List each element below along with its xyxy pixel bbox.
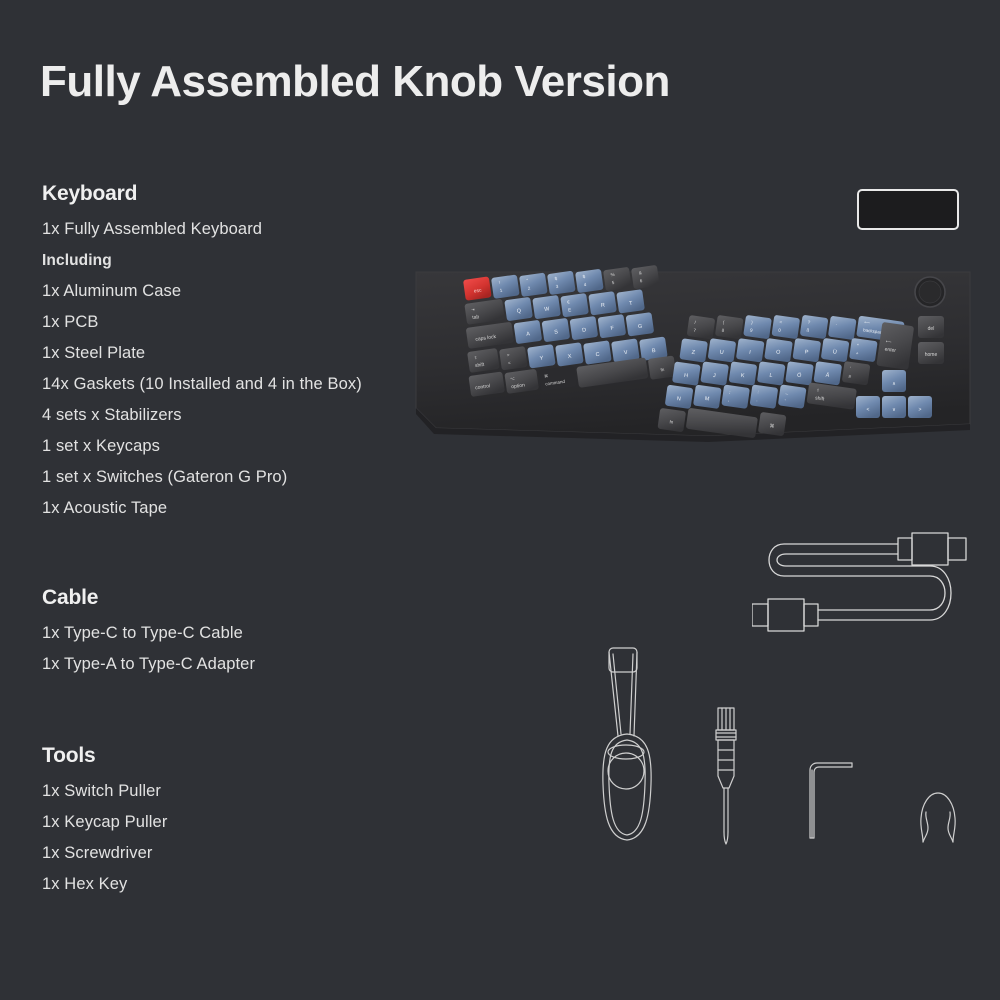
svg-text:esc: esc <box>473 287 482 294</box>
list-item: 1 set x Keycaps <box>42 431 462 462</box>
section-tools: Tools 1x Switch Puller 1x Keycap Puller … <box>42 744 462 900</box>
list-item: 1x Screwdriver <box>42 838 462 869</box>
svg-text:%: % <box>610 272 615 278</box>
keyboard-outline-badge <box>857 189 959 230</box>
section-cable: Cable 1x Type-C to Type-C Cable 1x Type-… <box>42 586 462 680</box>
svg-text:N: N <box>676 396 681 402</box>
svg-text:H: H <box>684 373 689 379</box>
list-item: 1x Fully Assembled Keyboard <box>42 214 462 245</box>
list-item: 1x Aluminum Case <box>42 276 462 307</box>
svg-text:⌘: ⌘ <box>769 423 775 430</box>
svg-text:∨: ∨ <box>892 407 896 413</box>
svg-text:del: del <box>928 326 935 332</box>
page-title: Fully Assembled Knob Version <box>40 57 670 107</box>
list-item: 1x Hex Key <box>42 869 462 900</box>
svg-text:⇧: ⇧ <box>474 355 478 360</box>
svg-text:∧: ∧ <box>892 381 896 387</box>
svg-text:tab: tab <box>472 314 480 321</box>
hex-key-illustration <box>808 760 856 840</box>
svg-text:⟵: ⟵ <box>864 319 871 325</box>
list-item: 1x Steel Plate <box>42 338 462 369</box>
svg-text:>: > <box>919 407 922 413</box>
list-item: 1x PCB <box>42 307 462 338</box>
svg-text:D: D <box>582 327 587 333</box>
alice-layout-keyboard-image: esc ! 1 " 2 $ 3 $ 4 % 5 & 6 <box>408 258 978 453</box>
svg-text:home: home <box>925 352 938 358</box>
list-item: 1x Switch Puller <box>42 776 462 807</box>
section-heading-keyboard: Keyboard <box>42 182 462 205</box>
list-item: 4 sets x Stabilizers <box>42 400 462 431</box>
keycap-puller-illustration <box>918 790 958 844</box>
list-item: 1x Acoustic Tape <box>42 493 462 524</box>
svg-text:R: R <box>601 303 606 309</box>
list-item: 1x Type-C to Type-C Cable <box>42 618 462 649</box>
section-heading-tools: Tools <box>42 744 462 767</box>
list-item: 14x Gaskets (10 Installed and 4 in the B… <box>42 369 462 400</box>
svg-text:⇧: ⇧ <box>816 387 820 392</box>
svg-text:⌘: ⌘ <box>544 373 549 379</box>
list-item: 1x Type-A to Type-C Adapter <box>42 649 462 680</box>
product-contents-page: Fully Assembled Knob Version Keyboard 1x… <box>0 0 1000 1000</box>
svg-text:U: U <box>719 350 724 356</box>
screwdriver-illustration <box>706 706 746 846</box>
list-item: 1 set x Switches (Gateron G Pro) <box>42 462 462 493</box>
svg-text:<: < <box>867 407 870 413</box>
list-item: 1x Keycap Puller <box>42 807 462 838</box>
list-item: Including <box>42 245 462 276</box>
svg-text:C: C <box>595 352 600 358</box>
usb-c-to-usb-c-cable-illustration <box>752 522 978 644</box>
svg-text:G: G <box>638 324 643 331</box>
section-heading-cable: Cable <box>42 586 462 609</box>
section-keyboard: Keyboard 1x Fully Assembled Keyboard Inc… <box>42 182 462 524</box>
switch-puller-illustration <box>594 644 664 844</box>
svg-text:⟵: ⟵ <box>885 339 892 345</box>
